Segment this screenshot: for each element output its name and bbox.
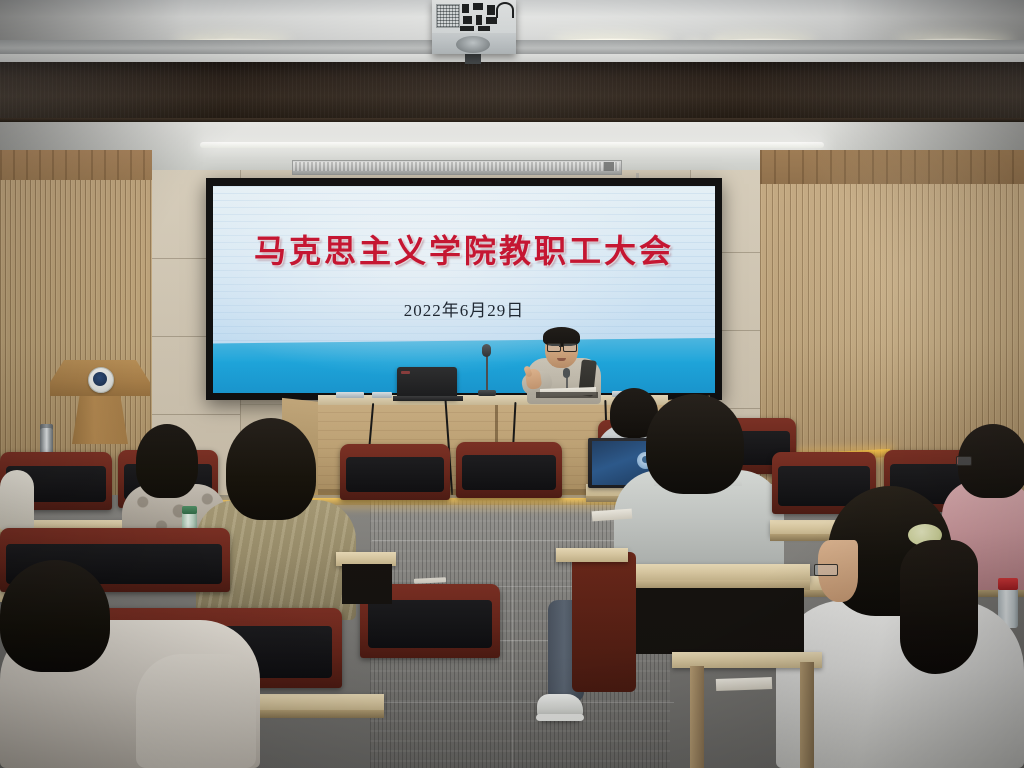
attendee-front-cream-sleeve [136, 654, 256, 768]
podium-column [72, 394, 128, 444]
air-vent-louvers [293, 162, 619, 171]
projector-mount [465, 54, 481, 64]
projector-label-mark-4 [463, 16, 472, 24]
aisle-person-chair [572, 552, 636, 692]
projection-glow [213, 186, 715, 393]
attendee-front-cream-hair [0, 560, 110, 672]
desk-front-right-under [636, 588, 804, 654]
desk-centre-right [556, 548, 628, 562]
chair-row3-c-pad [346, 457, 444, 492]
desk-paper-front [716, 677, 772, 691]
white-sneaker-sole [536, 714, 584, 721]
ceiling-beam-sheen [0, 62, 1024, 124]
projector-label-mark-2 [473, 3, 483, 10]
water-bottle-green-cap [182, 506, 197, 514]
second-microphone-head [563, 368, 570, 378]
attendee-ponytail-glasses [814, 564, 838, 576]
projector-label-mark-7 [460, 26, 474, 31]
projector-cable-icon [496, 2, 514, 18]
projector-label-mark-1 [462, 4, 469, 13]
laptop-logo [401, 371, 410, 374]
water-bottle-red-cap [998, 578, 1018, 590]
projector-lens [456, 36, 490, 53]
left-wood-cap-texture [0, 150, 152, 180]
projector-label-mark-5 [476, 15, 482, 25]
carpet-tile-seam-v [512, 500, 513, 768]
slide-date: 2022年6月29日 [213, 296, 715, 321]
attendee-ponytail-tail [900, 540, 978, 674]
projection-screen: 马克思主义学院教职工大会 2022年6月29日 [213, 186, 715, 393]
chair-row3-d-pad [462, 455, 556, 490]
desk-leg-right [690, 666, 704, 768]
gooseneck-microphone-head [482, 344, 491, 357]
tile-seam-3 [150, 414, 240, 415]
presenter-glasses-bridge [559, 346, 563, 347]
air-vent-knob [604, 162, 614, 171]
lecture-hall-photo: 马克思主义学院教职工大会 2022年6月29日 [0, 0, 1024, 768]
table-open-folder [536, 392, 598, 398]
presenter-glasses-right-lens [563, 343, 577, 352]
attendee-grey-laptop-hair [646, 394, 744, 494]
desk-centre-left-under [342, 564, 392, 604]
attendee-floral-blouse-hair [136, 424, 198, 498]
projector-vent-grid [436, 4, 460, 28]
attendee-khaki-hair [226, 418, 316, 520]
carpet-tile-seam-4 [366, 702, 674, 703]
desk-leg-right-2 [800, 662, 814, 768]
gooseneck-microphone-base [478, 390, 496, 396]
attendee-far-left-body [0, 470, 34, 530]
projector-label-mark-6 [486, 17, 497, 24]
projector-label-mark-3 [487, 5, 495, 15]
presenter-laptop-base [393, 396, 463, 401]
cove-light-strip [200, 142, 824, 148]
projector-label-mark-8 [478, 26, 490, 31]
university-emblem-inner [93, 372, 107, 386]
attendee-pink-glasses [956, 456, 972, 466]
chair-front-right-pad [368, 600, 492, 648]
slide-title: 马克思主义学院教职工大会 [213, 226, 715, 272]
nameplate-left [336, 392, 364, 398]
presenter-glasses-left-lens [547, 343, 561, 352]
nameplate-mid [372, 392, 392, 398]
